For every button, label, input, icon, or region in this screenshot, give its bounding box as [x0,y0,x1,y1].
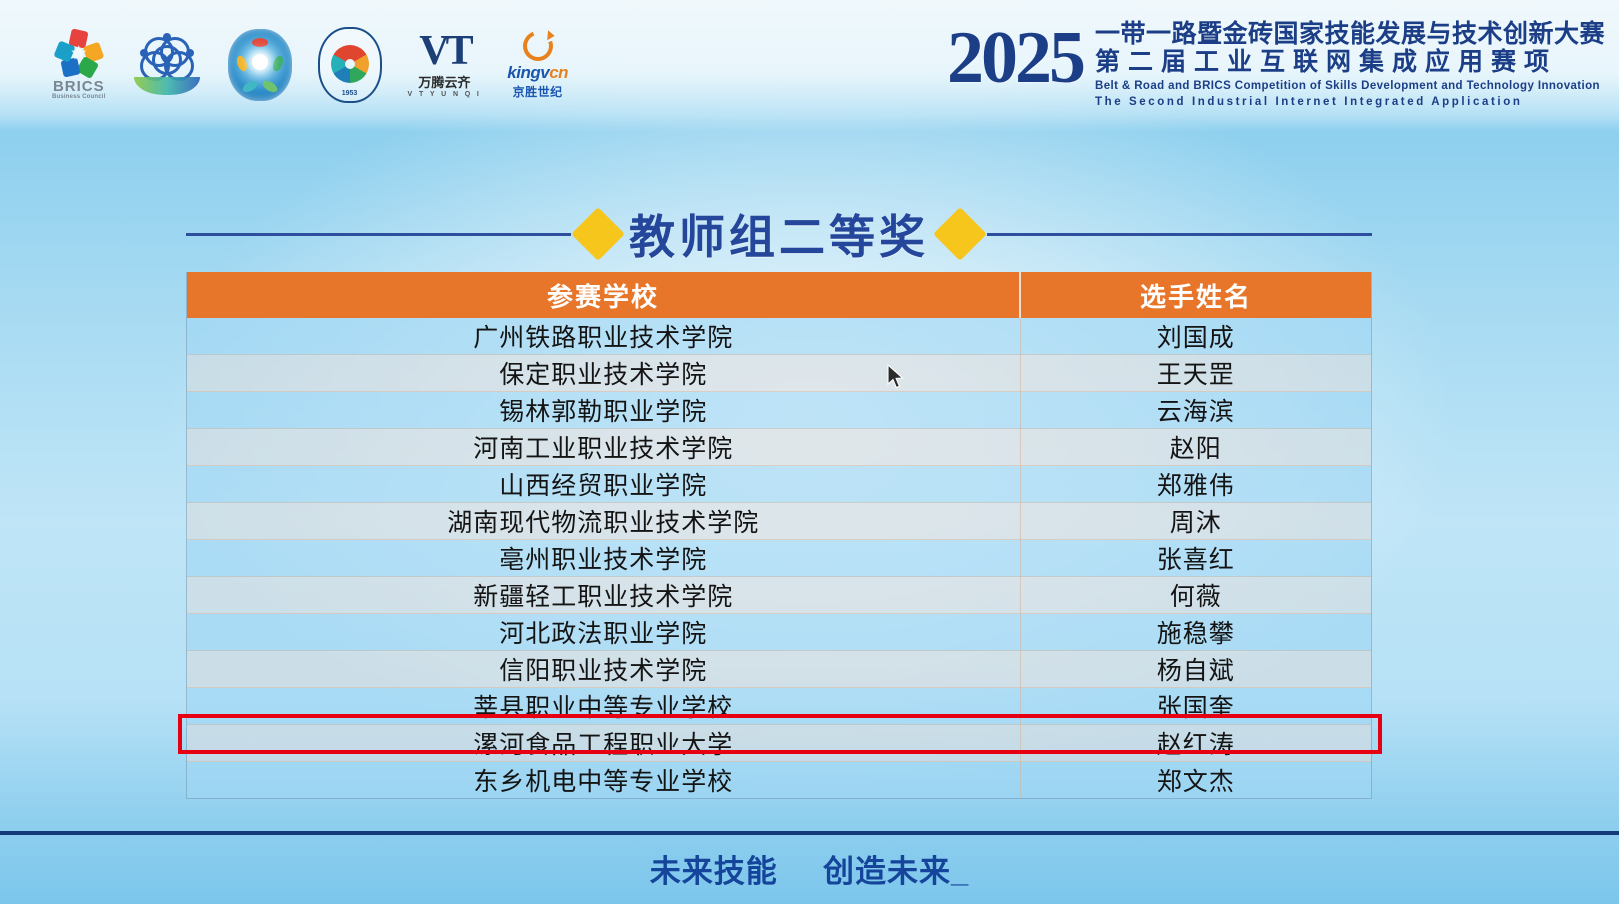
table-header-row: 参赛学校 选手姓名 [187,272,1371,318]
table-row: 亳州职业技术学院张喜红 [187,540,1371,577]
vt-logo-subtext: V T Y U N Q I [408,91,482,98]
award-table-container: 参赛学校 选手姓名 广州铁路职业技术学院刘国成保定职业技术学院王天罡锡林郭勒职业… [186,272,1372,799]
cell-school: 亳州职业技术学院 [187,540,1020,577]
vt-monogram-icon: VT [419,32,469,71]
cell-school: 河北政法职业学院 [187,614,1020,651]
event-title-cn-primary: 一带一路暨金砖国家技能发展与技术创新大赛 [1095,20,1605,48]
cell-school: 广州铁路职业技术学院 [187,318,1020,355]
award-table-head: 参赛学校 选手姓名 [187,272,1371,318]
slide-canvas: BRICS Business Council [0,0,1619,904]
network-atom-icon [132,33,202,97]
table-row: 湖南现代物流职业技术学院周沐 [187,503,1371,540]
column-header-name: 选手姓名 [1020,272,1371,318]
cell-name: 杨自斌 [1020,651,1371,688]
competition-emblem-logo [228,23,292,107]
page-title: 教师组二等奖 [621,201,937,267]
cell-name: 张国奎 [1020,688,1371,725]
cell-name: 刘国成 [1020,318,1371,355]
diamond-icon-left [571,207,625,261]
swirl-arrow-icon [518,26,558,66]
top-banner: BRICS Business Council [0,0,1619,132]
cell-school: 东乡机电中等专业学校 [187,762,1020,799]
footer-slogan-right: 创造未来_ [823,854,969,889]
cell-school: 锡林郭勒职业学院 [187,392,1020,429]
kingvcn-logo: kingvcn 京胜世纪 [507,23,568,107]
title-rule-right [987,233,1372,236]
table-row: 河北政法职业学院施稳攀 [187,614,1371,651]
cell-name: 周沐 [1020,503,1371,540]
kingvcn-logo-subtext: 京胜世纪 [513,83,563,100]
cell-school: 山西经贸职业学院 [187,466,1020,503]
cell-name: 郑文杰 [1020,762,1371,799]
school-seal-icon: 1953 [318,27,382,103]
school-seal-logo: 1953 [318,23,382,107]
table-row: 锡林郭勒职业学院云海滨 [187,392,1371,429]
cell-school: 莘县职业中等专业学校 [187,688,1020,725]
event-title-en-secondary: The Second Industrial Internet Integrate… [1095,94,1605,110]
brics-network-logo [132,23,202,107]
brics-logo: BRICS Business Council [52,23,106,107]
event-title-cn-secondary: 第二届工业互联网集成应用赛项 [1095,48,1605,78]
mouse-pointer-icon [886,364,906,390]
cell-school: 新疆轻工职业技术学院 [187,577,1020,614]
table-row: 保定职业技术学院王天罡 [187,355,1371,392]
cell-name: 何薇 [1020,577,1371,614]
table-row: 莘县职业中等专业学校张国奎 [187,688,1371,725]
title-rule-left [186,233,571,236]
sponsor-logo-row: BRICS Business Council [52,22,568,108]
brics-star-icon [56,30,102,76]
table-row: 漯河食品工程职业大学赵红涛 [187,725,1371,762]
cell-name: 施稳攀 [1020,614,1371,651]
event-title-en-primary: Belt & Road and BRICS Competition of Ski… [1095,78,1605,95]
diamond-icon-right [933,207,987,261]
seal-year-text: 1953 [320,90,380,97]
footer-slogan: 未来技能 创造未来_ [0,818,1619,891]
table-row: 山西经贸职业学院郑雅伟 [187,466,1371,503]
brics-logo-text: BRICS [53,79,105,94]
column-header-school: 参赛学校 [187,272,1020,318]
table-row: 河南工业职业技术学院赵阳 [187,429,1371,466]
table-row: 广州铁路职业技术学院刘国成 [187,318,1371,355]
cell-school: 漯河食品工程职业大学 [187,725,1020,762]
cell-school: 信阳职业技术学院 [187,651,1020,688]
footer-slogan-left: 未来技能 [650,854,778,889]
cell-name: 王天罡 [1020,355,1371,392]
vt-logo-text: 万腾云齐 [418,72,470,91]
table-row: 东乡机电中等专业学校郑文杰 [187,762,1371,799]
table-row: 信阳职业技术学院杨自斌 [187,651,1371,688]
cell-name: 张喜红 [1020,540,1371,577]
table-row: 新疆轻工职业技术学院何薇 [187,577,1371,614]
event-year: 2025 [947,23,1083,94]
vtyunqi-logo: VT 万腾云齐 V T Y U N Q I [408,23,482,107]
cell-school: 河南工业职业技术学院 [187,429,1020,466]
cell-name: 赵阳 [1020,429,1371,466]
cell-name: 云海滨 [1020,392,1371,429]
award-table-body: 广州铁路职业技术学院刘国成保定职业技术学院王天罡锡林郭勒职业学院云海滨河南工业职… [187,318,1371,798]
kingvcn-logo-text: kingvcn [507,63,568,83]
cell-school: 湖南现代物流职业技术学院 [187,503,1020,540]
event-title-block: 2025 一带一路暨金砖国家技能发展与技术创新大赛 第二届工业互联网集成应用赛项… [947,20,1605,110]
cell-name: 郑雅伟 [1020,466,1371,503]
award-table: 参赛学校 选手姓名 广州铁路职业技术学院刘国成保定职业技术学院王天罡锡林郭勒职业… [187,272,1371,798]
cell-name: 赵红涛 [1020,725,1371,762]
section-title-bar: 教师组二等奖 [186,203,1372,265]
brics-logo-subtext: Business Council [52,94,106,100]
emblem-icon [228,29,292,101]
